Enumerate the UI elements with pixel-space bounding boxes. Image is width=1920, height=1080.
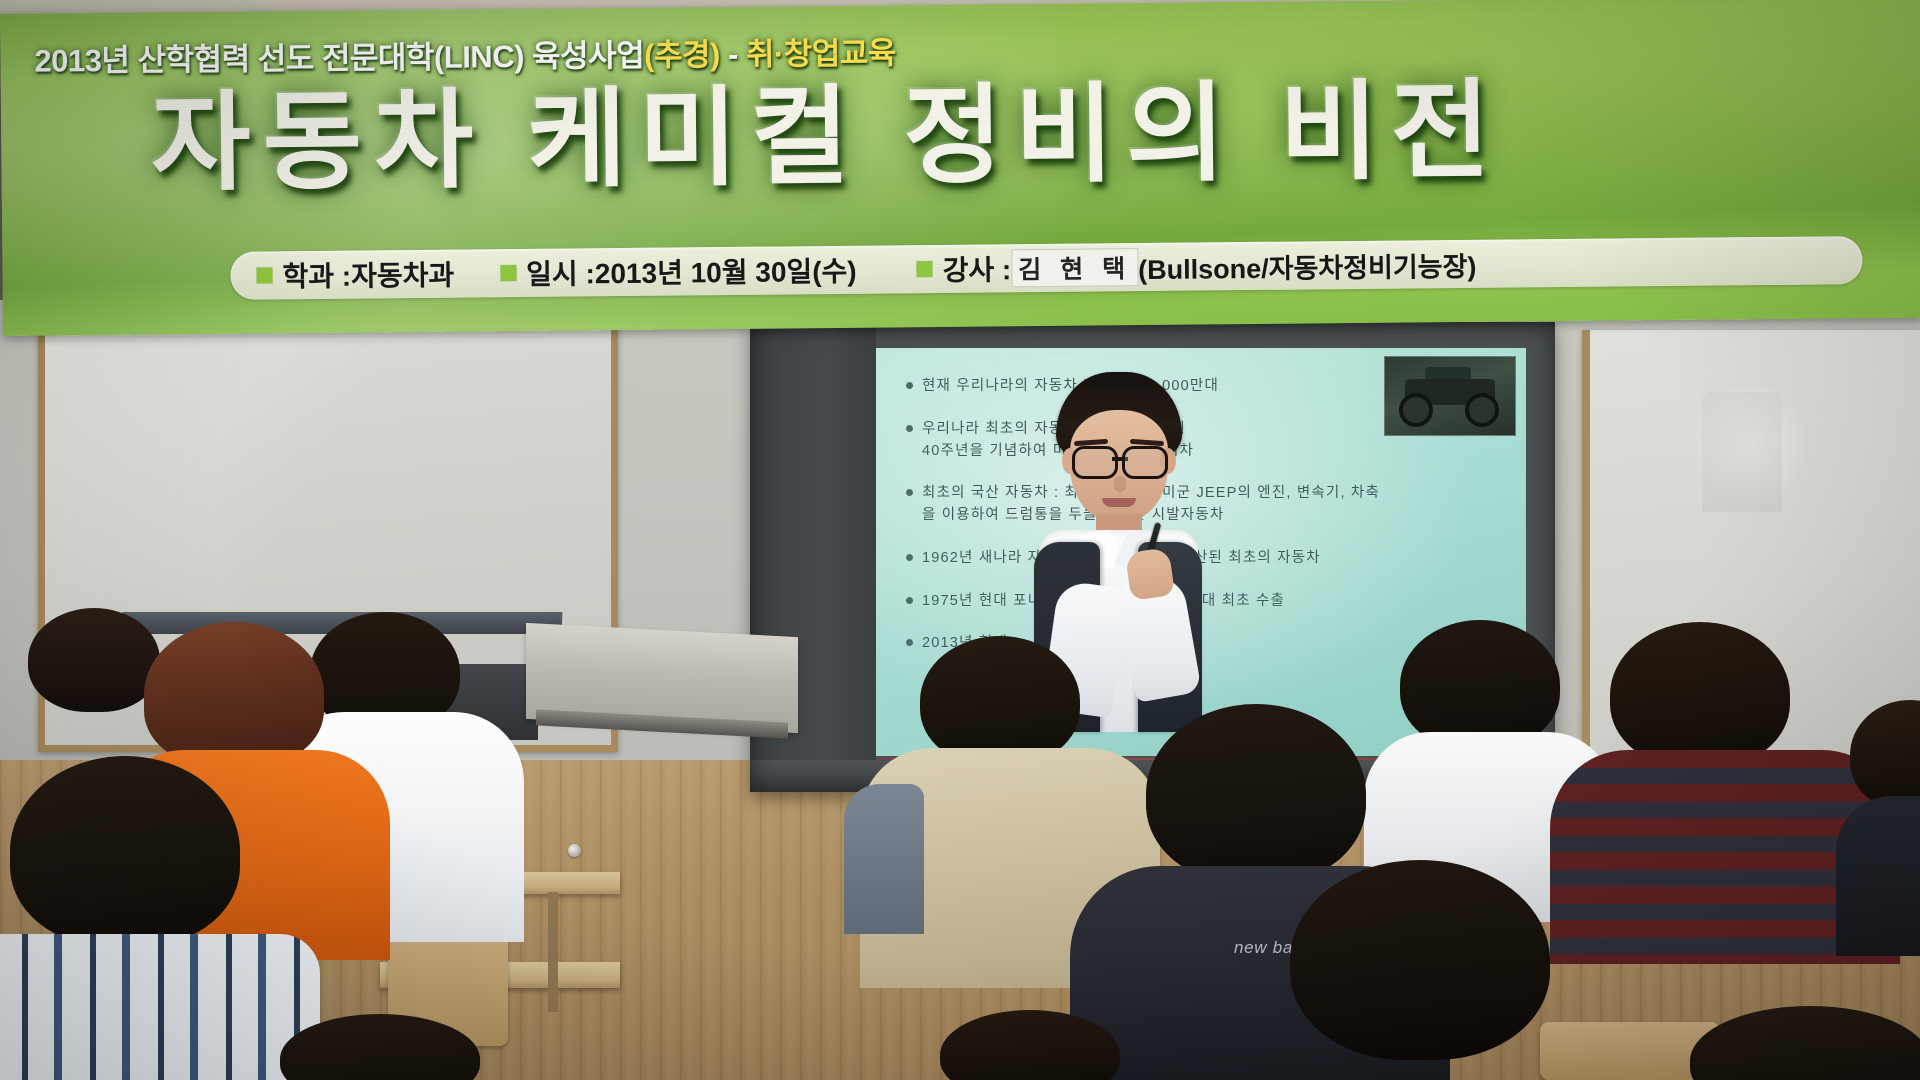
info-department: 학과 : 자동차과 bbox=[256, 254, 454, 296]
eyeglasses-icon bbox=[1072, 446, 1168, 474]
audience-head bbox=[1146, 704, 1366, 884]
audience-head bbox=[1610, 622, 1790, 768]
whiteboard-object bbox=[1702, 392, 1782, 512]
banner-subtitle-line: 2013년 산학협력 선도 전문대학(LINC) 육성사업(추경) - 취·창업… bbox=[34, 24, 1284, 81]
event-banner: 2013년 산학협력 선도 전문대학(LINC) 육성사업(추경) - 취·창업… bbox=[0, 0, 1920, 336]
audience-member bbox=[940, 1010, 1120, 1080]
glasses-lens-left bbox=[1072, 446, 1118, 479]
glasses-lens-right bbox=[1122, 446, 1168, 479]
department-value: 자동차과 bbox=[351, 254, 454, 295]
audience-torso-dark bbox=[1836, 796, 1920, 956]
banner-category: 취·창업교육 bbox=[746, 35, 896, 71]
audience-member bbox=[1270, 860, 1570, 1080]
audience-head bbox=[1690, 1006, 1920, 1080]
info-lecturer: 강사 : 김 현 택 (Bullsone/자동차정비기능장) bbox=[916, 244, 1476, 289]
audience-head bbox=[1290, 860, 1550, 1060]
presenter-mouth bbox=[1102, 498, 1136, 507]
square-bullet-icon bbox=[917, 261, 933, 277]
banner-dash: - bbox=[720, 37, 746, 72]
department-label: 학과 : bbox=[282, 255, 351, 296]
audience-head bbox=[1850, 700, 1920, 810]
info-date: 일시 : 2013년 10월 30일(수) bbox=[500, 250, 857, 293]
date-label: 일시 : bbox=[526, 252, 595, 293]
square-bullet-icon bbox=[500, 265, 516, 281]
square-bullet-icon bbox=[256, 267, 272, 283]
audience-head-reddish-hair bbox=[144, 622, 324, 766]
audience-sleeve-gray bbox=[844, 784, 924, 934]
seminar-photograph: 현재 우리나라의 자동차 대수 : 약 2,000만대 우리나라 최초의 자동차… bbox=[0, 0, 1920, 1080]
banner-main-title: 자동차 케미컬 정비의 비전 bbox=[151, 68, 1892, 203]
presenter-nose bbox=[1114, 476, 1126, 492]
banner-supplement-tag: (추경) bbox=[644, 37, 720, 73]
desk-leg bbox=[548, 892, 558, 1012]
audience-head bbox=[940, 1010, 1120, 1080]
cabinet-knob bbox=[568, 844, 581, 857]
lecturer-label: 강사 : bbox=[942, 248, 1011, 289]
audience-member bbox=[280, 1014, 480, 1080]
lecturer-organization: (Bullsone/자동차정비기능장) bbox=[1138, 244, 1477, 286]
audience-member bbox=[1690, 1006, 1920, 1080]
audience-head bbox=[920, 636, 1080, 766]
audience-head bbox=[1400, 620, 1560, 750]
date-value: 2013년 10월 30일(수) bbox=[595, 250, 857, 293]
lecturer-name: 김 현 택 bbox=[1011, 248, 1138, 287]
audience-member bbox=[1850, 700, 1920, 930]
audience-torso-plaid-shirt bbox=[0, 934, 320, 1080]
audience-head bbox=[280, 1014, 480, 1080]
banner-program-name: 2013년 산학협력 선도 전문대학(LINC) 육성사업 bbox=[34, 38, 644, 79]
audience-head bbox=[10, 756, 240, 946]
banner-info-bar: 학과 : 자동차과 일시 : 2013년 10월 30일(수) 강사 : 김 현… bbox=[230, 236, 1862, 300]
